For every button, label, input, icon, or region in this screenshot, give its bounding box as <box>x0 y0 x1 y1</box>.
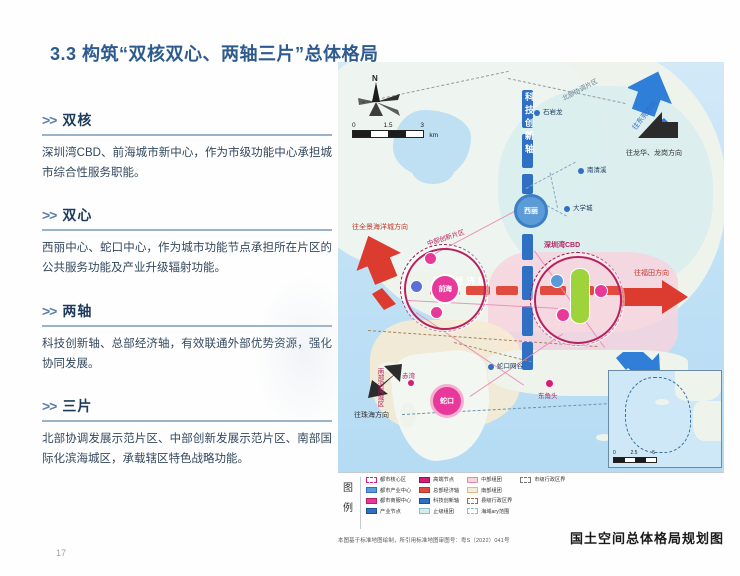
content-column: >>双核 深圳湾CBD、前海城市新中心，作为市级功能中心承担城市综合性服务职能。… <box>42 110 332 491</box>
legend-item: 止级组团 <box>419 508 459 515</box>
legend-swatch-icon <box>467 498 478 504</box>
legend-item: 市级行政区界 <box>520 476 565 483</box>
node-daxuecheng-dot <box>564 206 570 212</box>
legend-item: 产业节点 <box>366 508 411 515</box>
legend-label: 县级行政区界 <box>481 497 512 504</box>
inset-scalebar-tick-0: 0 <box>613 450 616 456</box>
legend-item: 高端节点 <box>419 476 459 483</box>
legend-item: 都市核心区 <box>366 476 411 483</box>
center-shekou-badge: 蛇口 <box>430 384 464 418</box>
legend-item: 科技创新轴 <box>419 497 459 504</box>
map-footnote: 本图基于标准地图绘制，所引用标准地图审图号：粤S（2022）041号 <box>338 536 510 544</box>
node-shiyan-label: 石岩龙 <box>543 106 563 116</box>
node-chiwan-label: 赤湾 <box>402 370 415 380</box>
slide-page: 3.3 构筑“双核双心、两轴三片”总体格局 >>双核 深圳湾CBD、前海城市新中… <box>0 0 740 576</box>
section-body-3: 北部协调发展示范片区、中部创新发展示范片区、南部国际化滨海城区，承载辖区特色战略… <box>42 429 332 469</box>
core-szbay-greenbelt <box>570 268 590 324</box>
legend-item: 中部组团 <box>467 476 512 483</box>
section-block-2: >>两轴 科技创新轴、总部经济轴，有效联通外部优势资源，强化协同发展。 <box>42 301 332 374</box>
section-title-3: 三片 <box>62 398 92 414</box>
section-title-1: 双心 <box>62 207 92 223</box>
legend-label: 科技创新轴 <box>433 497 459 504</box>
section-block-0: >>双核 深圳湾CBD、前海城市新中心，作为市级功能中心承担城市综合性服务职能。 <box>42 110 332 183</box>
section-heading-3: >>三片 <box>42 396 332 420</box>
scalebar-tick-0: 0 <box>352 122 356 129</box>
axis-tech-innovation-segment <box>522 234 533 260</box>
page-title: 3.3 构筑“双核双心、两轴三片”总体格局 <box>50 40 379 66</box>
legend-label: 南部组团 <box>481 487 502 494</box>
legend-label: 都市核心区 <box>380 476 406 483</box>
inset-boundary <box>625 377 691 453</box>
core-qianhai-subnode <box>430 306 443 319</box>
direction-label-east-dark: 往龙华、龙岗方向 <box>626 148 682 158</box>
legend-label: 市级行政区界 <box>534 476 565 483</box>
section-divider-0 <box>42 134 332 136</box>
legend-column-2: 中部组团 南部组团 县级行政区界 海域агу范围 <box>467 476 512 515</box>
legend-swatch-icon <box>419 487 430 493</box>
node-shekouwanggu-dot <box>488 364 494 370</box>
arrow-east-dark-icon <box>632 108 684 148</box>
legend-title-char-0: 图 <box>340 479 356 499</box>
section-divider-3 <box>42 420 332 422</box>
inset-scalebar: 0 2.5 5 <box>613 450 657 463</box>
section-heading-0: >>双核 <box>42 110 332 134</box>
legend-swatch-icon <box>366 498 377 504</box>
node-shekouwanggu-label: 蛇口网谷 <box>497 360 523 370</box>
core-qianhai-subnode <box>424 252 437 265</box>
legend-item: 都市产业中心 <box>366 487 411 494</box>
section-body-2: 科技创新轴、总部经济轴，有效联通外部优势资源，强化协同发展。 <box>42 334 332 374</box>
core-szbay-subnode <box>550 274 564 288</box>
node-shiyan-dot <box>534 110 540 116</box>
inset-land <box>693 401 721 441</box>
page-number: 17 <box>56 548 66 558</box>
chevron-marker-icon: >> <box>42 398 56 414</box>
legend-column-1: 高端节点 总部经济轴 科技创新轴 止级组团 <box>419 476 459 515</box>
legend-swatch-icon <box>419 498 430 504</box>
direction-label-southwest: 往珠海方向 <box>354 410 389 420</box>
legend-label: 海域агу范围 <box>481 508 509 515</box>
legend-item: 县级行政区界 <box>467 497 512 504</box>
legend-swatch-icon <box>520 477 531 483</box>
inset-scalebar-bar <box>613 457 657 463</box>
legend-item: 南部组团 <box>467 487 512 494</box>
axis-hq-economy-segment <box>496 286 518 295</box>
center-shekou-label: 蛇口 <box>440 396 454 406</box>
chevron-marker-icon: >> <box>42 207 56 223</box>
node-daxuecheng-label: 大学城 <box>573 202 593 212</box>
axis-tech-innovation-label: 科技创新轴 <box>523 92 536 157</box>
section-block-1: >>双心 西丽中心、蛇口中心，作为城市功能节点承担所在片区的公共服务功能及产业升… <box>42 205 332 278</box>
section-divider-1 <box>42 229 332 231</box>
node-dongjiaotou-dot <box>546 380 553 387</box>
inset-scalebar-ticks: 0 2.5 5 <box>613 450 655 456</box>
section-divider-2 <box>42 325 332 327</box>
legend-label: 产业节点 <box>380 508 401 515</box>
inset-scalebar-tick-2: 5 <box>652 450 655 456</box>
compass-needle-icon <box>356 76 414 124</box>
scalebar-ticks: 0 1.5 3 <box>352 122 424 129</box>
center-xili-badge: 西丽 <box>514 194 548 228</box>
map-inset: 0 2.5 5 <box>608 370 722 468</box>
legend-swatch-icon <box>467 487 478 493</box>
core-qianhai-center: 前海 <box>430 274 460 304</box>
planning-map: N 0 1.5 3 km <box>338 62 724 472</box>
section-body-1: 西丽中心、蛇口中心，作为城市功能节点承担所在片区的公共服务功能及产业升级辐射功能… <box>42 238 332 278</box>
section-heading-2: >>两轴 <box>42 301 332 325</box>
legend-item: 总部经济轴 <box>419 487 459 494</box>
direction-arrow-northwest <box>352 232 408 315</box>
legend-item: 海域агу范围 <box>467 508 512 515</box>
core-qianhai-subnode <box>410 280 423 293</box>
legend-label: 中部组团 <box>481 476 502 483</box>
core-qianhai-label: 前海 <box>439 284 452 294</box>
direction-label-east-red: 往福田方向 <box>634 268 669 278</box>
arrow-northwest-icon <box>352 232 408 310</box>
legend-label: 总部经济轴 <box>433 487 459 494</box>
legend-column-3: 市级行政区界 <box>520 476 565 515</box>
legend-title-char-1: 例 <box>340 499 356 519</box>
arrow-east-red-icon <box>620 280 690 314</box>
direction-arrow-east-red <box>620 280 690 319</box>
legend-swatch-icon <box>467 477 478 483</box>
legend-separator <box>360 477 361 529</box>
compass-north-label: N <box>372 74 378 83</box>
direction-arrow-east-dark <box>632 108 684 153</box>
section-title-2: 两轴 <box>62 303 92 319</box>
direction-label-northwest: 往全景海洋城方向 <box>352 222 408 232</box>
node-nanqingxi-label: 南清溪 <box>587 164 607 174</box>
section-body-0: 深圳湾CBD、前海城市新中心，作为市级功能中心承担城市综合性服务职能。 <box>42 143 332 183</box>
chevron-marker-icon: >> <box>42 112 56 128</box>
legend-swatch-icon <box>366 477 377 483</box>
center-xili-label: 西丽 <box>524 206 538 216</box>
map-label-region-south: 南部滨海城区 <box>374 368 384 407</box>
legend-item: 都市商服中心 <box>366 497 411 504</box>
core-szbay-label: 深圳湾CBD <box>544 240 580 250</box>
node-dongjiaotou-label: 东角头 <box>538 390 558 400</box>
legend-title: 图 例 <box>340 479 356 519</box>
legend-swatch-icon <box>419 477 430 483</box>
map-legend: 图 例 都市核心区 都市产业中心 都市商服中心 产业节点 高端节点 总部经济轴 … <box>338 472 724 533</box>
node-chiwan-dot <box>408 380 414 386</box>
map-title: 国土空间总体格局规划图 <box>570 528 724 547</box>
node-nanqingxi-dot <box>578 168 584 174</box>
legend-swatch-icon <box>366 487 377 493</box>
scalebar-tick-2: 3 <box>420 122 424 129</box>
core-szbay-subnode <box>556 308 570 322</box>
legend-swatch-icon <box>419 508 430 514</box>
legend-label: 止级组团 <box>433 508 454 515</box>
section-heading-1: >>双心 <box>42 205 332 229</box>
legend-label: 都市产业中心 <box>380 487 411 494</box>
chevron-marker-icon: >> <box>42 303 56 319</box>
compass-rose-icon: N <box>356 76 414 124</box>
scalebar-bar <box>352 130 424 138</box>
legend-column-0: 都市核心区 都市产业中心 都市商服中心 产业节点 <box>366 476 411 515</box>
legend-columns: 都市核心区 都市产业中心 都市商服中心 产业节点 高端节点 总部经济轴 科技创新… <box>366 476 724 515</box>
map-scalebar: 0 1.5 3 km <box>352 122 424 138</box>
legend-swatch-icon <box>467 508 478 514</box>
scalebar-unit: km <box>429 132 438 139</box>
core-szbay-subnode <box>594 284 608 298</box>
legend-label: 都市商服中心 <box>380 497 411 504</box>
section-block-3: >>三片 北部协调发展示范片区、中部创新发展示范片区、南部国际化滨海城区，承载辖… <box>42 396 332 469</box>
scalebar-tick-1: 1.5 <box>383 122 392 129</box>
legend-label: 高端节点 <box>433 476 454 483</box>
inset-scalebar-tick-1: 2.5 <box>631 450 638 456</box>
legend-swatch-icon <box>366 508 377 514</box>
section-title-0: 双核 <box>62 112 92 128</box>
